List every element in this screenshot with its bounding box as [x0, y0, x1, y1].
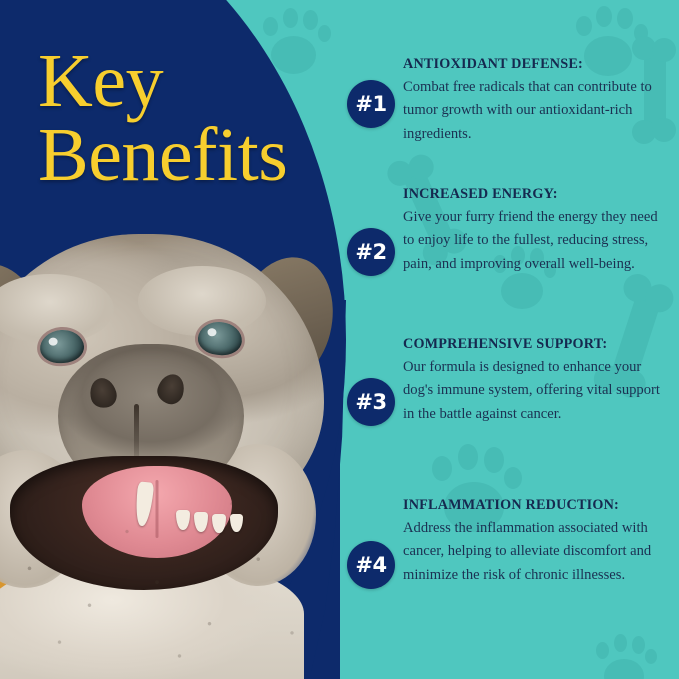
- dog-tooth: [212, 514, 226, 533]
- benefit-body-3: Our formula is designed to enhance your …: [403, 356, 665, 426]
- bulldog-photo: [0, 218, 337, 679]
- benefit-badge-2: #2: [347, 228, 395, 276]
- dog-brow-right: [138, 266, 266, 336]
- benefit-badge-3: #3: [347, 378, 395, 426]
- key-benefits-infographic: Key Benefits #1 A: [0, 0, 679, 679]
- benefit-heading-2: INCREASED ENERGY:: [403, 186, 665, 203]
- benefit-heading-4: INFLAMMATION REDUCTION:: [403, 497, 665, 514]
- benefit-heading-3: COMPREHENSIVE SUPPORT:: [403, 336, 665, 353]
- page-title: Key Benefits: [38, 44, 338, 193]
- benefit-badge-1: #1: [347, 80, 395, 128]
- benefit-text-1: ANTIOXIDANT DEFENSE: Combat free radical…: [403, 56, 665, 146]
- benefit-body-2: Give your furry friend the energy they n…: [403, 206, 665, 276]
- dog-tongue: [82, 466, 232, 558]
- benefit-body-4: Address the inflammation associated with…: [403, 517, 665, 587]
- page-title-line-2: Benefits: [38, 118, 338, 192]
- benefit-text-2: INCREASED ENERGY: Give your furry friend…: [403, 186, 665, 276]
- dog-tooth: [230, 514, 243, 532]
- benefit-badge-4: #4: [347, 541, 395, 589]
- benefit-text-3: COMPREHENSIVE SUPPORT: Our formula is de…: [403, 336, 665, 426]
- benefit-heading-1: ANTIOXIDANT DEFENSE:: [403, 56, 665, 73]
- page-title-line-1: Key: [38, 44, 338, 118]
- benefit-text-4: INFLAMMATION REDUCTION: Address the infl…: [403, 497, 665, 587]
- benefit-body-1: Combat free radicals that can contribute…: [403, 76, 665, 146]
- dog-nose-crease: [134, 404, 139, 462]
